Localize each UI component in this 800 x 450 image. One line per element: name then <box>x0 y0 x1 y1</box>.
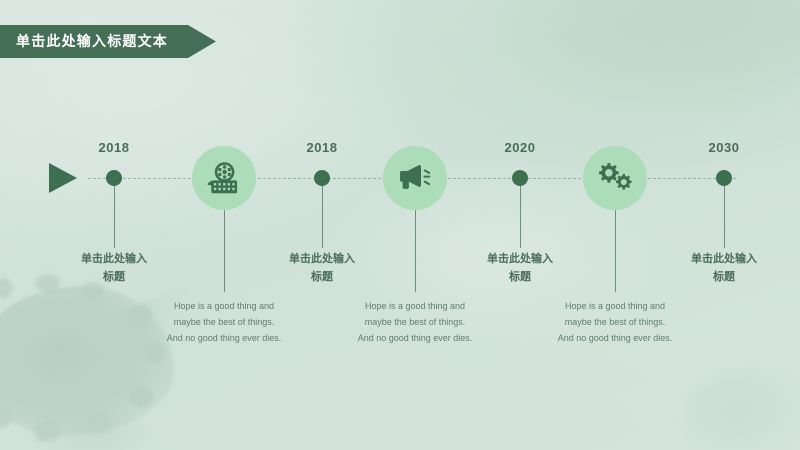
timeline-caption-3: 单击此处输入 标题 <box>262 250 382 286</box>
timeline-body-6: Hope is a good thing and maybe the best … <box>537 298 693 346</box>
timeline-caption-3-line-2: 标题 <box>262 268 382 286</box>
timeline-caption-7-line-2: 标题 <box>664 268 784 286</box>
timeline-body-2-line-2: maybe the best of things. <box>146 314 302 330</box>
megaphone-icon <box>397 163 433 193</box>
timeline-icon-circle-2[interactable] <box>192 146 256 210</box>
timeline-caption-1: 单击此处输入 标题 <box>54 250 174 286</box>
timeline-body-4: Hope is a good thing and maybe the best … <box>337 298 493 346</box>
timeline-dot-1[interactable] <box>106 170 122 186</box>
film-reel-icon <box>205 161 243 195</box>
timeline-caption-5-line-2: 标题 <box>460 268 580 286</box>
timeline-caption-3-line-1: 单击此处输入 <box>262 250 382 268</box>
triangle-right-icon <box>49 163 77 193</box>
timeline-body-6-line-1: Hope is a good thing and <box>537 298 693 314</box>
timeline-dot-7[interactable] <box>716 170 732 186</box>
timeline-icon-circle-4[interactable] <box>383 146 447 210</box>
gears-icon <box>596 162 634 194</box>
title-banner[interactable]: 单击此处输入标题文本 <box>0 25 216 58</box>
timeline-year-5: 2020 <box>480 140 560 155</box>
watercolor-blob-bottom-right <box>680 366 800 450</box>
timeline-body-6-line-2: maybe the best of things. <box>537 314 693 330</box>
timeline-caption-7-line-1: 单击此处输入 <box>664 250 784 268</box>
timeline-body-2-line-1: Hope is a good thing and <box>146 298 302 314</box>
timeline-connector-5 <box>520 186 521 248</box>
timeline-connector-7 <box>724 186 725 248</box>
timeline-caption-1-line-1: 单击此处输入 <box>54 250 174 268</box>
timeline-connector-2 <box>224 210 225 292</box>
timeline-dot-3[interactable] <box>314 170 330 186</box>
timeline-body-4-line-3: And no good thing ever dies. <box>337 330 493 346</box>
page-title: 单击此处输入标题文本 <box>16 25 168 58</box>
timeline-year-3: 2018 <box>282 140 362 155</box>
timeline-body-6-line-3: And no good thing ever dies. <box>537 330 693 346</box>
timeline-icon-circle-6[interactable] <box>583 146 647 210</box>
slide-canvas: 单击此处输入标题文本 2018 单击此处输入 标题 <box>0 0 800 450</box>
timeline-body-2: Hope is a good thing and maybe the best … <box>146 298 302 346</box>
timeline-caption-5-line-1: 单击此处输入 <box>460 250 580 268</box>
timeline-caption-7: 单击此处输入 标题 <box>664 250 784 286</box>
timeline-dot-5[interactable] <box>512 170 528 186</box>
timeline-year-7: 2030 <box>684 140 764 155</box>
timeline-caption-1-line-2: 标题 <box>54 268 174 286</box>
timeline-connector-1 <box>114 186 115 248</box>
timeline-body-4-line-1: Hope is a good thing and <box>337 298 493 314</box>
timeline-year-1: 2018 <box>74 140 154 155</box>
timeline-connector-4 <box>415 210 416 292</box>
timeline-connector-6 <box>615 210 616 292</box>
timeline-body-4-line-2: maybe the best of things. <box>337 314 493 330</box>
timeline-caption-5: 单击此处输入 标题 <box>460 250 580 286</box>
timeline-body-2-line-3: And no good thing ever dies. <box>146 330 302 346</box>
timeline-connector-3 <box>322 186 323 248</box>
